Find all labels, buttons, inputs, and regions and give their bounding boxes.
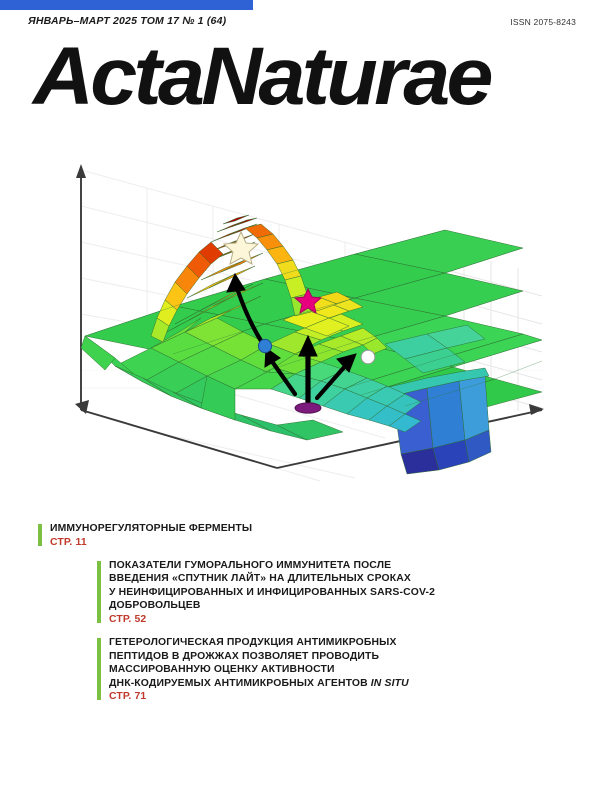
circle-marker-blue — [258, 339, 271, 352]
article-2-line-3: У НЕИНФИЦИРОВАННЫХ И ИНФИЦИРОВАННЫХ SARS… — [109, 587, 435, 598]
article-2-line-2: ВВЕДЕНИЯ «СПУТНИК ЛАЙТ» НА ДЛИТЕЛЬНЫХ СР… — [109, 573, 411, 584]
article-3-italic-tail: IN SITU — [371, 678, 409, 689]
article-3-line-2: ПЕПТИДОВ В ДРОЖЖАХ ПОЗВОЛЯЕТ ПРОВОДИТЬ — [109, 651, 379, 662]
cover-figure-3d-surface — [55, 148, 545, 483]
article-highlights-list: ИММУНОРЕГУЛЯТОРНЫЕ ФЕРМЕНТЫ СТР. 11 ПОКА… — [0, 522, 600, 713]
article-page-1[interactable]: СТР. 11 — [50, 537, 600, 548]
article-2-line-1: ПОКАЗАТЕЛИ ГУМОРАЛЬНОГО ИММУНИТЕТА ПОСЛЕ — [109, 560, 391, 571]
article-3-line-4: ДНК-КОДИРУЕМЫХ АНТИМИКРОБНЫХ АГЕНТОВ — [109, 678, 371, 689]
article-item-1[interactable]: ИММУНОРЕГУЛЯТОРНЫЕ ФЕРМЕНТЫ СТР. 11 — [38, 522, 600, 548]
masthead-title: ActaNaturae — [33, 36, 583, 118]
star-marker-global-peak — [224, 232, 258, 264]
article-title-3: ГЕТЕРОЛОГИЧЕСКАЯ ПРОДУКЦИЯ АНТИМИКРОБНЫХ… — [109, 636, 509, 690]
issue-line: ЯНВАРЬ–МАРТ 2025 ТОМ 17 № 1 (64) — [28, 15, 226, 27]
article-title-1: ИММУНОРЕГУЛЯТОРНЫЕ ФЕРМЕНТЫ — [50, 522, 450, 536]
article-2-line-4: ДОБРОВОЛЬЦЕВ — [109, 600, 200, 611]
axis-arrow-x — [529, 404, 544, 415]
top-blue-rule — [0, 0, 253, 10]
circle-marker-white-main — [361, 350, 375, 364]
article-item-3[interactable]: ГЕТЕРОЛОГИЧЕСКАЯ ПРОДУКЦИЯ АНТИМИКРОБНЫХ… — [97, 636, 600, 702]
issn-text: ISSN 2075-8243 — [510, 17, 576, 27]
ellipse-marker-purple — [295, 403, 321, 413]
article-3-line-1: ГЕТЕРОЛОГИЧЕСКАЯ ПРОДУКЦИЯ АНТИМИКРОБНЫХ — [109, 637, 397, 648]
journal-cover: ЯНВАРЬ–МАРТ 2025 ТОМ 17 № 1 (64) ISSN 20… — [0, 0, 600, 786]
article-item-2[interactable]: ПОКАЗАТЕЛИ ГУМОРАЛЬНОГО ИММУНИТЕТА ПОСЛЕ… — [97, 559, 600, 625]
article-page-2[interactable]: СТР. 52 — [109, 614, 600, 625]
article-page-3[interactable]: СТР. 71 — [109, 691, 600, 702]
article-1-line-1: ИММУНОРЕГУЛЯТОРНЫЕ ФЕРМЕНТЫ — [50, 523, 252, 534]
article-3-line-3: МАССИРОВАННУЮ ОЦЕНКУ АКТИВНОСТИ — [109, 664, 335, 675]
article-title-2: ПОКАЗАТЕЛИ ГУМОРАЛЬНОГО ИММУНИТЕТА ПОСЛЕ… — [109, 559, 509, 613]
